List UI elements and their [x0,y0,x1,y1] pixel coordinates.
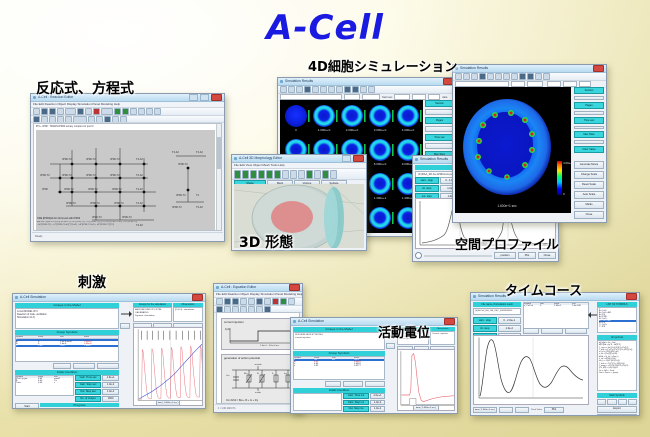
observation-list[interactable]: [Ca2+]i : stimulation [173,307,203,322]
zoom-in-icon[interactable] [280,86,287,93]
option-row[interactable]: Calc. Step sec 1.0e-3 [75,382,119,388]
redo-button[interactable] [565,328,587,334]
redo-button[interactable] [97,363,119,369]
paste-icon[interactable] [85,108,92,115]
window-timecourse[interactable]: Simulation Results File name of simulati… [470,292,640,416]
side-button-max-slice[interactable]: Max Slice [574,131,604,138]
option-row[interactable]: No. of Output 1600 [75,396,119,402]
svg-text:1.300e+1: 1.300e+1 [374,196,387,200]
shape-picker[interactable] [73,116,87,123]
window-title: Simulation Results [460,65,591,72]
side-button-change-scale[interactable]: Change Scale [574,171,604,179]
slider-handle[interactable] [415,252,422,259]
rotate-icon[interactable] [296,86,303,93]
italic-icon[interactable] [41,116,48,123]
zoom-fit-icon[interactable] [314,170,321,179]
option-row[interactable]: Out. Step ms 1.0e-2 [343,406,385,412]
side-button-pages[interactable]: Pages [574,102,604,109]
progress-bar-1 [40,408,79,409]
svg-text:IL: IL [272,373,275,375]
colormap-icon[interactable] [344,86,351,93]
app-icon [216,286,219,289]
mark-buttons[interactable] [597,399,637,405]
option-row[interactable]: Calc. Time sec 1.6e+1 [75,375,119,381]
symbols-table[interactable]: symbol value unit initial V A 0 1.0e-6 m… [15,335,119,362]
side-button-generate-movie[interactable]: Generate Movie [574,161,604,169]
window-reaction-editor[interactable]: A-Cell : Reaction Editor File Edit React… [30,93,225,242]
open-icon[interactable] [224,298,231,305]
caption-stimulus: 刺激 [78,272,106,292]
settings-icon[interactable] [543,73,550,80]
svg-text:inside: inside [255,392,261,394]
option-row[interactable]: Calc. Time ms 2.0e+1 [343,393,385,399]
vertical-scrollbar[interactable] [216,124,221,230]
opt-value-out-step[interactable]: 1.0e-2 [102,389,119,395]
svg-text:IP3R-T2: IP3R-T2 [66,201,76,205]
observation-panel[interactable]: Observation Current : injection [430,327,455,347]
rotate-x-icon[interactable] [282,170,289,179]
calc-options[interactable]: Calc. Time ms 2.0e+1 Calc. Step ms 1.0e-… [343,393,385,414]
export-icon[interactable] [330,170,337,179]
caption-3d-shape: 3D 形態 [239,232,293,252]
window-title: A-Cell : Equation Editor [221,284,287,291]
minimize-icon[interactable] [342,155,351,162]
mark-button-1[interactable] [597,399,606,405]
position-slider[interactable] [424,255,492,257]
help-icon[interactable] [288,298,295,305]
sim-side-panel[interactable]: Section Pages Time sec Max Slice Color V… [574,87,604,219]
ok-button[interactable] [386,343,395,349]
side-button-color-value[interactable]: Color Value [574,146,604,153]
slice-nav[interactable] [574,140,604,144]
app-icon [415,158,418,161]
param-label-int-step: int. step [415,185,439,192]
table-row[interactable]: v_Ca2+d 0 1.00e-1 1.0e-1/M [524,305,588,307]
open-icon[interactable] [41,108,48,115]
titlebar[interactable]: Simulation Results [453,65,606,73]
param-label-start-stop: start - stop [415,177,439,184]
cell-value: 1.00e-1 [554,305,572,307]
initial-condition-table[interactable]: symbol value unit [Ca2+]-cyto 0.05 umol/… [15,375,74,396]
equation-canvas[interactable]: current injection I(nA) 1.0e+0 - 4.0e+0 … [216,312,300,404]
cell-initial: 0.3177 [354,365,378,367]
param-row[interactable]: int. step 1.0e-2 [473,325,521,332]
mark-button-2[interactable] [607,399,616,405]
svg-text:IP3R-T2: IP3R-T2 [172,205,182,209]
copy-icon[interactable] [256,298,263,305]
window-title: A-Cell 3D Morphology Editor [239,155,340,162]
titlebar[interactable]: A-Cell Simulation [13,294,205,302]
reset-button[interactable] [523,328,539,334]
section-select[interactable] [425,109,454,115]
table-row[interactable]: Time 0.00 s [16,382,73,384]
new-icon[interactable] [216,298,223,305]
list-item[interactable]: C. IP3 [599,326,636,328]
svg-text:1.000e+0: 1.000e+0 [318,128,331,132]
side-button-time[interactable]: Time sec [425,134,454,141]
reaction-canvas[interactable]: IP3 + IP3R : TRANS-IP3R2 ternary complex… [33,123,222,231]
mark-button-4[interactable] [628,399,637,405]
zoom-in-button[interactable] [515,407,529,413]
render-icon[interactable] [322,170,329,179]
svg-text:3.000e+0: 3.000e+0 [374,128,387,132]
app-icon [234,157,237,160]
block-current-injection[interactable]: current injection I(nA) 1.0e+0 - 4.0e+0 … [221,318,295,350]
svg-text:IP3R-T2: IP3R-T2 [40,173,50,177]
zoom-out-button[interactable] [499,407,513,413]
copy-icon[interactable] [77,108,84,115]
side-button-auto-scale[interactable]: Auto Scale [574,191,604,199]
ok-button[interactable] [120,323,130,329]
progress-bar-2 [80,408,119,409]
toolbar-3d[interactable] [232,169,366,180]
pan-icon[interactable] [304,86,311,93]
param-value-start-stop[interactable]: 0 - 2.0e+1 [498,317,522,324]
svg-text:T2-b2: T2-b2 [136,187,143,191]
svg-text:4.09e+1: 4.09e+1 [563,161,571,165]
opt-value-calc-step[interactable]: 1.0e-3 [102,382,119,388]
svg-text:Cm dV/dt = INa + IK + IL + Iin: Cm dV/dt = INa + IK + IL + Iinj [226,399,258,402]
ap-left-column[interactable]: Groups in the Model HODGKIN-HUXLEY MODEL… [293,327,385,411]
calc-options[interactable]: Calc. Time sec 1.6e+1 Calc. Step sec 1.0… [75,375,119,402]
transfer-arrow-left[interactable] [588,311,597,319]
opt-value-calc-time[interactable]: 1.6e+1 [102,375,119,381]
equations-list[interactable]: d[Ca]/dt = Jin - Jout d[IP3]/dt = kp*S -… [597,340,637,391]
pages-value[interactable] [425,126,454,132]
side-button-time[interactable]: Time sec [574,117,604,124]
cut-icon[interactable] [248,298,255,305]
svg-text:IK: IK [257,373,260,375]
init-and-options[interactable]: Calc. Time ms 2.0e+1 Calc. Step ms 1.0e-… [293,393,385,414]
action-potential-chart[interactable]: time ( 2.000e+1 ms ) [397,349,455,411]
model-list[interactable]: HODGKIN-HUXLEY MODEL current injection [293,332,385,350]
align-center-icon[interactable] [96,116,103,123]
symbol-list[interactable]: V A. Ca2+ A. Ca2+-ER A. IP3 A. IP3R B. C… [597,307,637,333]
col-value: value [38,336,60,338]
svg-text:T2-b2: T2-b2 [196,150,203,154]
chart-footer[interactable]: time ( 1.600e+1 sec ) [134,400,202,405]
section-select[interactable] [574,96,604,100]
run-buttons[interactable]: Start Stop Cancel [15,403,39,409]
side-button-section[interactable]: Section [425,100,454,107]
close-icon[interactable] [444,318,455,325]
undo-button[interactable] [343,381,363,387]
opt-label-calc-step: Calc. Step ms [343,400,369,406]
block-action-potential[interactable]: generation of action potential outside i… [221,354,295,404]
titlebar[interactable]: Simulation Results [278,78,456,86]
progress-area: Progress Start Time Elapsed Time 0.0/16.… [40,403,119,409]
caption-spatial-profile: 空間プロファイル [455,234,559,253]
circuit-diagram: outside inside [224,361,300,403]
opt-label-out-step: Out. Step ms [343,406,369,412]
mesh-icon[interactable] [274,170,281,179]
run-icon[interactable] [114,108,121,115]
close-icon[interactable] [289,284,300,291]
opt-value-calc-time[interactable]: 2.0e+1 [370,393,385,399]
side-button-pages[interactable]: Pages [425,117,454,124]
box-icon[interactable] [336,86,343,93]
bold-icon[interactable] [33,116,40,123]
opt-value-out-step[interactable]: 1.0e-2 [370,406,385,412]
observation-list[interactable]: Current : injection [430,331,455,345]
maximize-icon[interactable] [200,94,209,101]
export-button[interactable]: Export [597,406,637,413]
next-frame-icon[interactable] [495,73,502,80]
object-sphere-icon[interactable] [242,170,249,179]
node-icon[interactable] [57,116,64,123]
next-frame-icon[interactable] [320,86,327,93]
svg-text:Cm: Cm [226,375,230,377]
param-row[interactable]: start - stop 0 - 2.0e+1 [473,317,521,324]
paste-icon[interactable] [264,298,271,305]
caption-4d-simulation: 4D細胞シミュレーション [308,56,457,75]
table-actions[interactable] [15,363,119,369]
stimulus-chart[interactable]: time ( 1.600e+1 sec ) [133,327,203,406]
titlebar[interactable]: A-Cell 3D Morphology Editor [232,155,366,163]
action-potential-svg [398,350,455,410]
reset-button[interactable] [53,363,71,369]
reset-icon[interactable] [328,86,335,93]
model-line: Stimulation v0.3) [17,316,117,319]
opt-value-no-output[interactable]: 1600 [102,396,119,402]
xlabel-time: time ( 1.600e+1 sec ) [156,400,180,406]
reset-icon[interactable] [503,73,510,80]
result-path-field[interactable]: (d:)A-Cell_HH_CA_OSC_0000000000 [473,308,521,315]
palette-icon[interactable] [527,73,534,80]
colormap-icon[interactable] [519,73,526,80]
print-icon[interactable] [240,298,247,305]
cell-unit [332,365,354,367]
symbol-list-panel[interactable]: LIST OF SYMBOLS V A. Ca2+ A. Ca2+-ER A. … [597,302,637,416]
link-icon[interactable] [65,116,72,123]
minimize-icon[interactable] [189,94,198,101]
svg-text:I(nA): I(nA) [225,328,230,331]
toolbar-primary[interactable] [31,108,224,116]
time-nav[interactable] [574,126,604,130]
param-label-start-stop: start - stop [473,317,497,324]
opt-value-no-output[interactable]: 2000 [370,413,385,415]
toolbar[interactable] [453,73,606,81]
symbols-table[interactable]: symbol value unit initial V -65 mV -65.0… [293,356,385,380]
side-button-section[interactable]: Section [574,87,604,94]
snap-icon[interactable] [146,108,153,115]
align-left-icon[interactable] [88,116,95,123]
pan-icon[interactable] [479,73,486,80]
zoom-out-icon[interactable] [288,86,295,93]
arrow-left-icon [588,311,597,319]
toolbar-primary[interactable] [214,298,302,306]
calc-and-obs-panels[interactable]: Groups for the calculation BACKGROUND IP… [133,303,203,325]
cell-heatmap-canvas[interactable]: 4.09e+1 0 1.600e+1 sec [455,87,571,213]
save-icon[interactable] [232,298,239,305]
chart-footer[interactable]: time ( 2.000e+1 ms ) [398,405,454,410]
titlebar[interactable]: A-Cell Simulation [291,318,457,326]
symbol-table[interactable]: symbol rate value unit v_Ca2+d 0 1.00e-1… [523,302,589,329]
cell-unit: s [54,382,72,384]
measure-icon[interactable] [535,73,542,80]
cell-rate: 0 [540,305,554,307]
object-cylinder-icon[interactable] [250,170,257,179]
light-icon[interactable] [306,170,313,179]
cut-icon[interactable] [65,108,76,115]
arrow-icon[interactable] [49,116,56,123]
group-icon[interactable] [112,116,119,123]
caption-action-potential: 活動電位 [378,322,430,341]
table-row-selected[interactable]: C 1.00 Ca2+ 1.00e-7 [16,345,118,347]
peak-value-checkbox-label[interactable]: Peak Value [531,409,542,411]
svg-text:T2-b2: T2-b2 [136,157,143,161]
mark-button-3[interactable] [618,399,627,405]
arrow-right-icon [120,306,132,322]
data-label: data [442,96,447,99]
svg-text:IP3R: IP3R [42,187,48,191]
svg-text:0: 0 [295,128,297,132]
window-action-potential-simulation[interactable]: A-Cell Simulation Groups in the Model HO… [290,317,458,414]
box-icon[interactable] [511,73,518,80]
svg-text:IP3R-T2: IP3R-T2 [112,187,122,191]
progress-header: Progress [40,403,119,407]
svg-text:IP3R-T2: IP3R-T2 [178,162,188,166]
timecourse-plot[interactable] [473,335,589,405]
app-icon [473,295,476,298]
table-actions[interactable] [523,328,587,334]
zoom-select[interactable] [101,108,113,115]
pages-value[interactable] [574,111,604,115]
initial-condition-table[interactable] [293,393,342,411]
rotate-z-icon[interactable] [298,170,305,179]
start-button[interactable]: Start [15,403,39,409]
table-row[interactable]: n 0.32 0.3177 [294,365,384,367]
svg-text:IP3R-T2: IP3R-T2 [176,193,186,197]
svg-text:IP3R-T2: IP3R-T2 [90,201,100,205]
titlebar[interactable]: A-Cell : Equation Editor [214,284,302,292]
run-icon[interactable] [280,298,287,305]
stimulus-chart-svg [134,328,203,406]
current-injection-plot: I(nA) 1.0e+0 - 4.0e+0 ms [224,326,300,346]
svg-text:4.000e+0: 4.000e+0 [402,128,415,132]
svg-text:T2: T2 [196,193,200,197]
reaction-network-diagram[interactable]: IP3R-T2IP3R-T2 IP3R-T2T2-b2 IP3R-T2IP3R-… [36,130,215,230]
stop-icon[interactable] [130,108,137,115]
calc-list[interactable]: BACKGROUND IP-3 STIM-CALIBRATED Dynamic … [133,307,172,322]
palette-icon[interactable] [352,86,359,93]
option-row[interactable]: Out. Step sec 1.0e-2 [75,389,119,395]
close-icon[interactable] [626,293,637,300]
cell-initial: 1.00e-7 [84,345,110,347]
prev-frame-icon[interactable] [487,73,494,80]
option-row[interactable]: No. of Output 2000 [343,413,385,415]
opt-label-calc-step: Calc. Step sec [75,382,101,388]
doc-equation-text: d[IP3R-T2]/dt = k1*[IP3]*[IP3R-T2] - k2*… [37,221,213,229]
model-list[interactable]: A-Cell MODEL IP-3 Reaction of Ca2+ oscil… [15,308,119,329]
redo-button[interactable] [365,381,385,387]
close-button[interactable]: Close [597,414,637,417]
side-button-close[interactable]: Close [574,211,604,219]
cell-value: 1.00 [38,345,60,347]
align-right-icon[interactable] [104,116,111,123]
table-actions[interactable] [293,381,385,387]
step-icon[interactable] [122,108,129,115]
reset-button[interactable] [325,381,341,387]
cell-symbol: n [294,365,314,367]
status-bar: 1 / 1.00 100.0 % [215,404,301,412]
undo-icon[interactable] [272,298,279,305]
export-buttons[interactable]: Export [597,406,637,413]
run-and-progress[interactable]: Start Stop Cancel Progress Start Time El… [15,403,119,409]
object-cube-icon[interactable] [234,170,241,179]
app-icon [293,320,296,323]
close-icon[interactable] [192,294,203,301]
calc-panel[interactable]: Groups for the calculation BACKGROUND IP… [133,303,172,325]
option-row[interactable]: Calc. Step ms 1.0e-2 [343,400,385,406]
grid-icon[interactable] [138,108,145,115]
cell-unit: Ca2+ [60,345,84,347]
ungroup-icon[interactable] [120,116,127,123]
transfer-arrow-group[interactable] [120,306,132,322]
plot-button[interactable]: Plot [518,252,536,259]
window-sim-results-big[interactable]: Simulation Results (d:)RAA_3D-1a-1234hou… [452,64,607,223]
svg-text:outside: outside [254,363,262,366]
plot-footer[interactable]: time ( 2.000e+1 ms ) Peak Value Plot [473,406,587,414]
calc-line: Dynamic stimulation [135,315,170,318]
close-buttons[interactable]: Close [597,414,637,417]
window-stimulus-simulation[interactable]: A-Cell Simulation Groups in the Model A-… [12,293,206,409]
plot-button[interactable]: Plot [544,407,564,414]
toolbar[interactable] [278,86,456,94]
help-icon[interactable] [154,108,161,115]
close-icon[interactable] [211,94,222,101]
close-icon[interactable] [593,65,604,72]
param-label-int-step: int. step [473,325,497,332]
toolbar-secondary[interactable] [31,116,224,123]
zoom-out-icon[interactable] [463,73,470,80]
settings-icon[interactable] [368,86,375,93]
object-torus-icon[interactable] [266,170,273,179]
model-line: current injection [295,337,383,340]
object-cone-icon[interactable] [258,170,265,179]
rotate-y-icon[interactable] [290,170,297,179]
close-icon[interactable] [353,155,364,162]
prev-frame-icon[interactable] [312,86,319,93]
time-nav[interactable] [425,143,454,149]
undo-icon[interactable] [93,108,100,115]
param-value-int-step[interactable]: 1.0e-2 [498,325,522,332]
side-button-reset-scale[interactable]: Reset Scale [574,181,604,189]
close-button[interactable]: Close [538,252,556,259]
undo-button[interactable] [541,328,563,334]
rotate-icon[interactable] [471,73,478,80]
init-and-options[interactable]: symbol value unit [Ca2+]-cyto 0.05 umol/… [15,375,119,402]
app-icon [280,80,283,83]
svg-text:IP3R-T2: IP3R-T2 [114,201,124,205]
app-icon [15,296,18,299]
print-icon[interactable] [57,108,64,115]
window-title: A-Cell Simulation [20,294,190,301]
save-icon[interactable] [49,108,56,115]
new-icon[interactable] [33,108,40,115]
opt-label-calc-time: Calc. Time sec [75,375,101,381]
observation-panel[interactable]: Observation [Ca2+]i : stimulation [173,303,203,325]
undo-button[interactable] [73,363,95,369]
progress-bars [40,408,119,409]
stimulus-left-column[interactable]: Groups in the Model A-Cell MODEL IP-3 Re… [15,303,119,406]
xlabel-position: position [494,252,516,259]
observation-line: Current : injection [432,333,453,335]
opt-value-calc-step[interactable]: 1.0e-2 [370,400,385,406]
side-button-marks[interactable]: Marks [574,201,604,209]
measure-icon[interactable] [360,86,367,93]
col-symbol: symbol [16,336,38,338]
